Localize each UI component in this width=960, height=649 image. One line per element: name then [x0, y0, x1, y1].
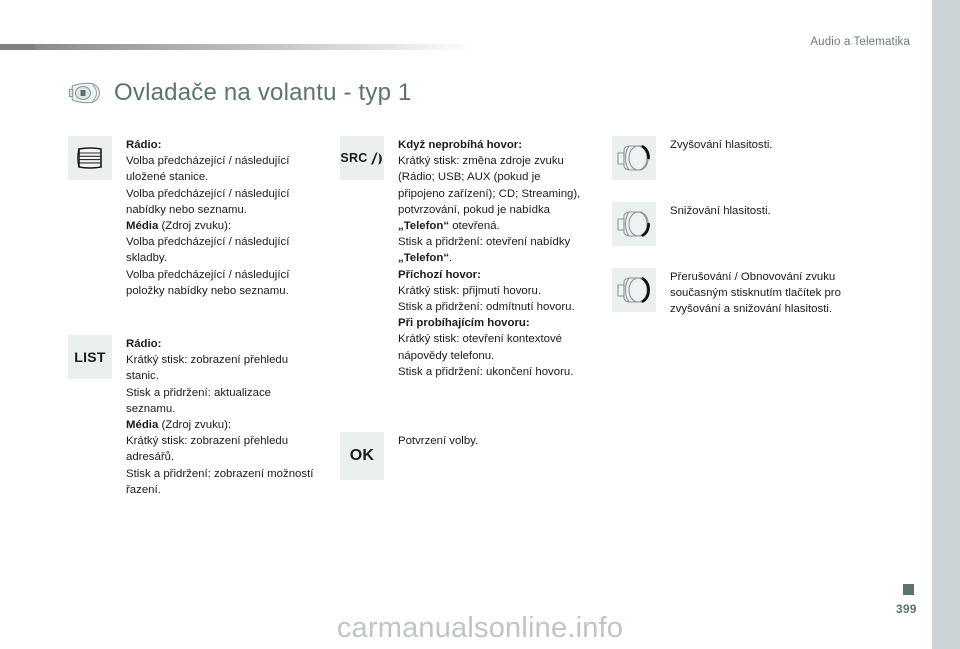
page-number: 399 [896, 602, 917, 616]
entry-line: Krátký stisk: zobrazení přehledu [126, 435, 288, 447]
entry-line: řazení. [126, 484, 161, 496]
volume-up-knob-icon [616, 143, 652, 173]
entry-line-bold: Rádio: [126, 338, 161, 350]
entry-line: Potvrzení volby. [398, 435, 478, 447]
steering-wheel-control-icon [68, 80, 102, 106]
entry-line: nápovědy telefonu. [398, 350, 494, 362]
control-entry: Rádio: Volba předcházející / následující… [68, 136, 330, 299]
list-button-icon-box: LIST [68, 335, 112, 379]
entry-line: Stisk a přidržení: ukončení hovoru. [398, 366, 573, 378]
entry-line: Stisk a přidržení: zobrazení možností [126, 468, 313, 480]
entry-line: stanic. [126, 370, 159, 382]
entry-line: Volba předcházející / následující [126, 269, 289, 281]
control-entry-text: Když neprobíhá hovor: Krátký stisk: změn… [398, 136, 580, 380]
entry-line: připojeno zařízení); CD; Streaming), [398, 188, 580, 200]
entry-line: potvrzování, pokud je nabídka [398, 204, 550, 216]
mute-knob-icon-box [612, 268, 656, 312]
entry-line: skladby. [126, 252, 167, 264]
source-phone-button-icon-box: SRC [340, 136, 384, 180]
entry-line: adresářů. [126, 451, 174, 463]
entry-line-bold: „Telefon“ [398, 252, 449, 264]
page-right-edge-band [932, 0, 960, 649]
entry-line: seznamu. [126, 403, 175, 415]
entry-line: Snižování hlasitosti. [670, 205, 771, 217]
entry-line: Zvyšování hlasitosti. [670, 139, 773, 151]
content-column-3: Zvyšování hlasitosti. Snižování hlasitos… [612, 136, 912, 318]
control-entry: Zvyšování hlasitosti. [612, 136, 912, 180]
list-button-icon: LIST [74, 350, 106, 364]
control-entry-text: Snižování hlasitosti. [670, 202, 771, 219]
entry-line: Krátký stisk: otevření kontextové [398, 333, 562, 345]
entry-line: Přerušování / Obnovování zvuku [670, 271, 835, 283]
entry-line-bold: Při probíhajícím hovoru: [398, 317, 530, 329]
site-watermark: carmanualsonline.info [0, 612, 960, 645]
page-canvas: Audio a Telematika Ovladače na volantu -… [0, 0, 960, 649]
entry-line: Stisk a přidržení: odmítnutí hovoru. [398, 301, 575, 313]
entry-line: zvyšování a snižování hlasitosti. [670, 303, 832, 315]
entry-line: Krátký stisk: zobrazení přehledu [126, 354, 288, 366]
entry-line: uložené stanice. [126, 171, 208, 183]
header-gradient-rule [0, 44, 476, 50]
control-entry-text: Přerušování / Obnovování zvuku současným… [670, 268, 841, 318]
phone-handset-icon [370, 151, 384, 166]
ok-button-icon-box: OK [340, 432, 384, 480]
entry-line: (Zdroj zvuku): [158, 419, 231, 431]
page-title-row: Ovladače na volantu - typ 1 [68, 80, 412, 106]
entry-line-bold: Média [126, 220, 158, 232]
content-column-2: SRC Když neprobíhá hovor: Krátký stisk: … [340, 136, 606, 480]
control-entry-text: Zvyšování hlasitosti. [670, 136, 773, 153]
scroll-wheel-icon-box [68, 136, 112, 180]
control-entry-text: Potvrzení volby. [398, 432, 478, 449]
entry-line: (Rádio; USB; AUX (pokud je [398, 171, 540, 183]
control-entry: Přerušování / Obnovování zvuku současným… [612, 268, 912, 318]
entry-line: Stisk a přidržení: aktualizace [126, 387, 271, 399]
control-entry-text: Rádio: Volba předcházející / následující… [126, 136, 289, 299]
entry-line: otevřená. [449, 220, 500, 232]
control-entry-text: Rádio: Krátký stisk: zobrazení přehledu … [126, 335, 313, 498]
footer-square-mark [903, 584, 914, 595]
entry-line: Volba předcházející / následující [126, 236, 289, 248]
entry-line-bold: Příchozí hovor: [398, 269, 481, 281]
header-section-title: Audio a Telematika [810, 36, 910, 48]
control-entry: SRC Když neprobíhá hovor: Krátký stisk: … [340, 136, 606, 380]
entry-line: Volba předcházející / následující [126, 188, 289, 200]
volume-down-knob-icon-box [612, 202, 656, 246]
control-entry: LIST Rádio: Krátký stisk: zobrazení přeh… [68, 335, 330, 498]
scroll-wheel-icon [75, 146, 105, 170]
entry-line: nabídky nebo seznamu. [126, 204, 247, 216]
entry-line: Volba předcházející / následující [126, 155, 289, 167]
ok-button-icon: OK [350, 448, 375, 464]
entry-line: Stisk a přidržení: otevření nabídky [398, 236, 570, 248]
content-column-1: Rádio: Volba předcházející / následující… [68, 136, 330, 498]
entry-line: položky nabídky nebo seznamu. [126, 285, 289, 297]
page-title: Ovladače na volantu - typ 1 [114, 81, 412, 105]
entry-line: současným stisknutím tlačítek pro [670, 287, 841, 299]
entry-line: . [449, 252, 452, 264]
entry-line: Krátký stisk: změna zdroje zvuku [398, 155, 564, 167]
entry-line-bold: „Telefon“ [398, 220, 449, 232]
entry-line: Krátký stisk: přijmutí hovoru. [398, 285, 541, 297]
control-entry: Snižování hlasitosti. [612, 202, 912, 246]
mute-knob-icon [616, 275, 652, 305]
control-entry: OK Potvrzení volby. [340, 432, 606, 480]
entry-line: (Zdroj zvuku): [158, 220, 231, 232]
entry-line-bold: Když neprobíhá hovor: [398, 139, 522, 151]
entry-line-bold: Média [126, 419, 158, 431]
volume-up-knob-icon-box [612, 136, 656, 180]
volume-down-knob-icon [616, 209, 652, 239]
entry-line-bold: Rádio: [126, 139, 161, 151]
source-phone-button-icon: SRC [340, 152, 367, 165]
